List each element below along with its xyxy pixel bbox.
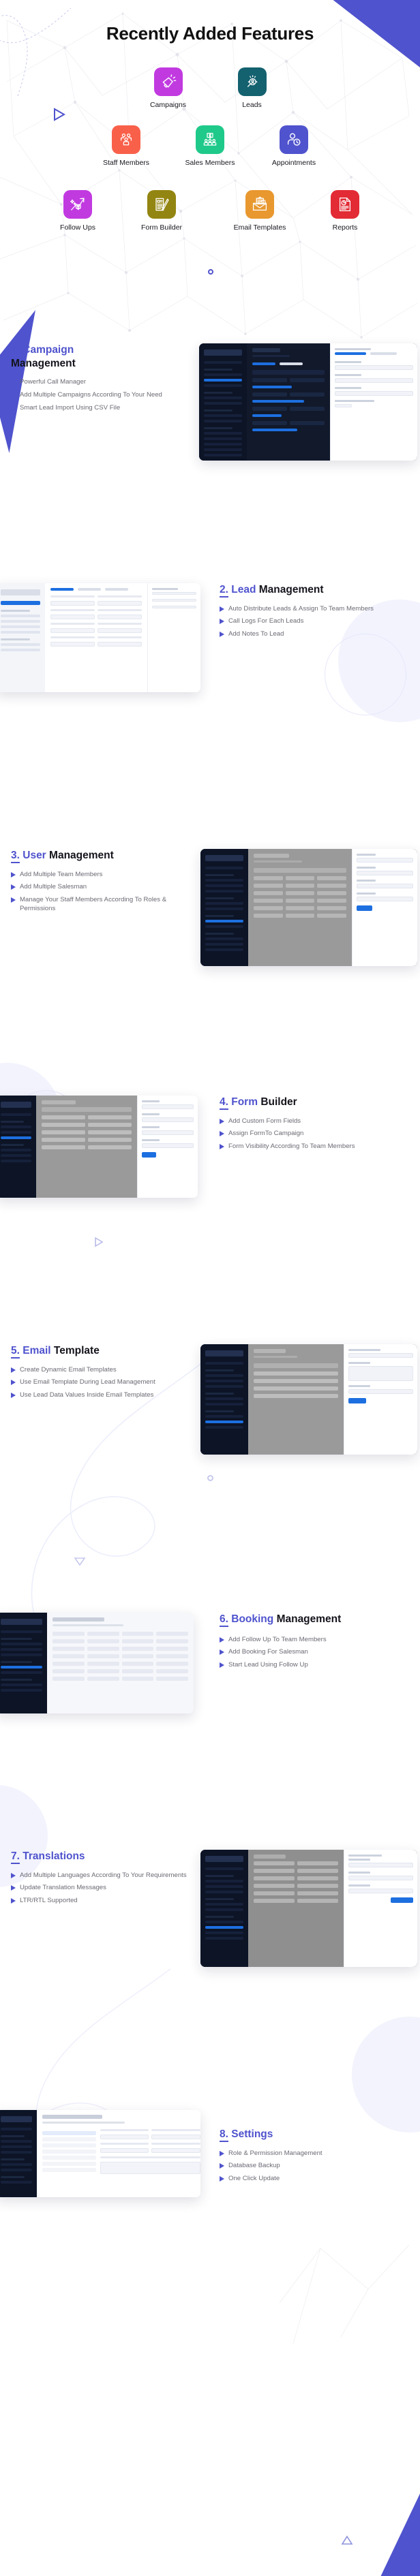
feature-section-3-bullets: Add Multiple Team Members Add Multiple S… bbox=[11, 871, 191, 914]
feature-tile-label: Sales Members bbox=[168, 159, 252, 167]
bullet-text: Assign FormTo Campaign bbox=[228, 1130, 303, 1138]
feature-section-7-screenshot bbox=[200, 1850, 420, 1967]
staff-group-icon bbox=[112, 125, 140, 154]
bullet-triangle-icon bbox=[11, 1898, 16, 1904]
section-number: 5. bbox=[11, 1345, 20, 1359]
screenshot-template-editor bbox=[344, 1344, 417, 1455]
feature-tile-form-builder[interactable]: Form Builder bbox=[115, 190, 209, 232]
screenshot-list-panel bbox=[247, 343, 330, 461]
feature-section-4-text: 4. Form Builder Add Custom Form Fields A… bbox=[205, 1096, 420, 1155]
bullet-item: Add Multiple Campaigns According To Your… bbox=[11, 391, 185, 400]
section-accent-word: Campaign bbox=[22, 344, 74, 356]
section-plain-word: Template bbox=[54, 1345, 100, 1356]
feature-tile-label: Staff Members bbox=[85, 159, 168, 167]
hero-section: Recently Added Features Campaigns bbox=[0, 0, 420, 247]
form-pencil-icon bbox=[147, 190, 176, 219]
feature-section-3-screenshot bbox=[200, 849, 420, 966]
screenshot-sidebar bbox=[200, 1850, 248, 1967]
feature-section-6-text: 6. Booking Management Add Follow Up To T… bbox=[205, 1613, 420, 1674]
feature-section-1-bullets: Powerful Call Manager Add Multiple Campa… bbox=[11, 378, 185, 413]
bullet-item: Auto Distribute Leads & Assign To Team M… bbox=[220, 605, 412, 614]
feature-section-2-title: 2. Lead Management bbox=[220, 583, 412, 597]
app-screenshot-campaigns bbox=[199, 343, 417, 461]
app-screenshot-bookings bbox=[0, 1613, 194, 1713]
screenshot-settings-panel bbox=[37, 2110, 200, 2197]
feature-section-7-bullets: Add Multiple Languages According To Your… bbox=[11, 1872, 191, 1906]
bullet-item: Call Logs For Each Leads bbox=[220, 617, 412, 626]
bullet-text: Smart Lead Import Using CSV File bbox=[20, 404, 120, 413]
bullet-item: Powerful Call Manager bbox=[11, 378, 185, 387]
screenshot-template-list bbox=[248, 1344, 344, 1455]
bullet-text: Start Lead Using Follow Up bbox=[228, 1661, 308, 1670]
feature-section-8-screenshot bbox=[0, 2110, 205, 2197]
bullet-triangle-icon bbox=[220, 1662, 224, 1668]
feature-tile-label: Follow Ups bbox=[41, 223, 115, 232]
screenshot-field-panel bbox=[137, 1096, 198, 1198]
feature-tile-label: Campaigns bbox=[126, 101, 210, 109]
bullet-text: Add Follow Up To Team Members bbox=[228, 1636, 327, 1645]
bullet-item: Add Multiple Salesman bbox=[11, 883, 191, 892]
feature-tile-sales-members[interactable]: Sales Members bbox=[168, 125, 252, 167]
bullet-text: Add Multiple Campaigns According To Your… bbox=[20, 391, 162, 400]
feature-tile-label: Form Builder bbox=[115, 223, 209, 232]
feature-section-7-title: 7. Translations bbox=[11, 1850, 191, 1863]
bullet-triangle-icon bbox=[11, 884, 16, 890]
screenshot-user-table bbox=[248, 849, 352, 966]
screenshot-form-panel bbox=[330, 343, 417, 461]
feature-tile-label: Appointments bbox=[252, 159, 336, 167]
section-number: 1. bbox=[11, 344, 20, 358]
bullet-triangle-icon bbox=[11, 1380, 16, 1385]
bullet-item: Form Visibility According To Team Member… bbox=[220, 1143, 412, 1151]
feature-section-3-text: 3. User Management Add Multiple Team Mem… bbox=[0, 849, 200, 918]
bullet-item: Manage Your Staff Members According To R… bbox=[11, 896, 191, 914]
bullet-text: Call Logs For Each Leads bbox=[228, 617, 303, 626]
bullet-triangle-icon bbox=[11, 1885, 16, 1891]
bullet-item: Start Lead Using Follow Up bbox=[220, 1661, 412, 1670]
growth-chart-icon bbox=[63, 190, 92, 219]
bullet-item: One Click Update bbox=[220, 2175, 412, 2184]
screenshot-sidebar bbox=[0, 1613, 47, 1713]
section-accent-word: Booking bbox=[231, 1613, 273, 1625]
bullet-text: Create Dynamic Email Templates bbox=[20, 1366, 117, 1375]
section-number: 2. bbox=[220, 584, 228, 598]
lead-search-icon bbox=[238, 67, 267, 96]
section-accent-word: Lead bbox=[231, 584, 256, 595]
app-screenshot-translations bbox=[200, 1850, 417, 1967]
up-triangle-decoration bbox=[341, 2534, 353, 2545]
bullet-text: Use Lead Data Values Inside Email Templa… bbox=[20, 1391, 153, 1400]
bullet-item: LTR/RTL Supported bbox=[11, 1897, 191, 1906]
feature-section-2-bullets: Auto Distribute Leads & Assign To Team M… bbox=[220, 605, 412, 640]
screenshot-lead-form bbox=[45, 583, 147, 692]
feature-section-8-title: 8. Settings bbox=[220, 2128, 412, 2141]
bullet-text: Manage Your Staff Members According To R… bbox=[20, 896, 191, 914]
bullet-text: Add Multiple Salesman bbox=[20, 883, 87, 892]
feature-section-8-bullets: Role & Permission Management Database Ba… bbox=[220, 2150, 412, 2184]
screenshot-sidebar bbox=[0, 2110, 37, 2197]
bullet-item: Add Notes To Lead bbox=[220, 630, 412, 639]
app-screenshot-email-template bbox=[200, 1344, 417, 1455]
section-accent-word: Settings bbox=[231, 2128, 273, 2140]
feature-tile-follow-ups[interactable]: Follow Ups bbox=[41, 190, 115, 232]
feature-section-4-title: 4. Form Builder bbox=[220, 1096, 412, 1109]
feature-section-2-screenshot bbox=[0, 583, 205, 692]
bullet-text: Add Custom Form Fields bbox=[228, 1117, 301, 1126]
megaphone-icon bbox=[154, 67, 183, 96]
bullet-triangle-icon bbox=[220, 2163, 224, 2169]
section-number: 7. bbox=[11, 1850, 20, 1864]
screenshot-user-form bbox=[352, 849, 417, 966]
section-plain-word: Management bbox=[259, 584, 324, 595]
bullet-triangle-icon bbox=[11, 872, 16, 878]
bullet-text: Update Translation Messages bbox=[20, 1884, 106, 1893]
feature-section-7: 7. Translations Add Multiple Languages A… bbox=[0, 1850, 420, 1967]
section-plain-word: Management bbox=[11, 358, 76, 369]
section-accent-word: Translations bbox=[22, 1850, 85, 1862]
section-accent-word: User bbox=[22, 850, 46, 861]
screenshot-translation-form bbox=[344, 1850, 417, 1967]
bullet-triangle-icon bbox=[220, 1144, 224, 1149]
section-number: 8. bbox=[220, 2128, 228, 2142]
bullet-text: Powerful Call Manager bbox=[20, 378, 86, 387]
feature-tile-appointments[interactable]: Appointments bbox=[252, 125, 336, 167]
corner-triangle-bottom-right bbox=[364, 2453, 420, 2576]
screenshot-sidebar bbox=[199, 343, 247, 461]
screenshot-lead-history bbox=[147, 583, 200, 692]
bullet-item: Use Email Template During Lead Managemen… bbox=[11, 1378, 191, 1387]
feature-section-4-bullets: Add Custom Form Fields Assign FormTo Cam… bbox=[220, 1117, 412, 1152]
screenshot-sidebar bbox=[200, 1344, 248, 1455]
feature-section-5-screenshot bbox=[200, 1344, 420, 1455]
bullet-triangle-icon bbox=[220, 1119, 224, 1124]
bullet-item: Add Multiple Team Members bbox=[11, 871, 191, 880]
bullet-triangle-icon bbox=[220, 1637, 224, 1643]
bullet-text: Form Visibility According To Team Member… bbox=[228, 1143, 355, 1151]
bullet-triangle-icon bbox=[11, 392, 16, 398]
feature-section-6-title: 6. Booking Management bbox=[220, 1613, 412, 1626]
bullet-text: Add Multiple Team Members bbox=[20, 871, 102, 880]
feature-section-6-screenshot bbox=[0, 1613, 205, 1713]
feature-section-4-screenshot bbox=[0, 1096, 205, 1198]
feature-tile-leads[interactable]: Leads bbox=[210, 67, 294, 109]
feature-section-8: 8. Settings Role & Permission Management… bbox=[0, 2110, 420, 2245]
appointment-clock-icon bbox=[280, 125, 308, 154]
feature-tile-label: Leads bbox=[210, 101, 294, 109]
bullet-item: Add Custom Form Fields bbox=[220, 1117, 412, 1126]
bullet-item: Add Follow Up To Team Members bbox=[220, 1636, 412, 1645]
section-number: 4. bbox=[220, 1096, 228, 1110]
bullet-text: One Click Update bbox=[228, 2175, 280, 2184]
feature-section-1-screenshot bbox=[195, 343, 420, 461]
feature-section-1: 1. Campaign Management Powerful Call Man… bbox=[0, 343, 420, 461]
down-triangle-decoration bbox=[74, 1557, 86, 1566]
section-number: 6. bbox=[220, 1613, 228, 1627]
bullet-text: Role & Permission Management bbox=[228, 2150, 322, 2158]
feature-section-4: 4. Form Builder Add Custom Form Fields A… bbox=[0, 1096, 420, 1198]
feature-tile-reports[interactable]: Reports bbox=[311, 190, 379, 232]
bullet-text: Add Booking For Salesman bbox=[228, 1648, 308, 1657]
bullet-triangle-icon bbox=[220, 1131, 224, 1136]
bullet-triangle-icon bbox=[11, 1367, 16, 1373]
feature-section-3: 3. User Management Add Multiple Team Mem… bbox=[0, 849, 420, 966]
screenshot-sidebar bbox=[0, 583, 45, 692]
feature-tile-label: Reports bbox=[311, 223, 379, 232]
circle-decoration-3 bbox=[207, 1475, 213, 1481]
feature-section-6: 6. Booking Management Add Follow Up To T… bbox=[0, 1613, 420, 1713]
feature-showcase-page: Recently Added Features Campaigns bbox=[0, 0, 420, 2576]
section-plain-word: Management bbox=[49, 850, 114, 861]
feature-tile-label: Email Templates bbox=[209, 223, 311, 232]
feature-section-1-text: 1. Campaign Management Powerful Call Man… bbox=[0, 343, 195, 417]
app-screenshot-form-builder bbox=[0, 1096, 198, 1198]
play-triangle-decoration-4 bbox=[94, 1237, 104, 1247]
feature-section-5-title: 5. Email Template bbox=[11, 1344, 191, 1358]
screenshot-form-canvas bbox=[36, 1096, 137, 1198]
report-chart-icon bbox=[331, 190, 359, 219]
app-screenshot-users bbox=[200, 849, 417, 966]
bullet-triangle-icon bbox=[220, 619, 224, 624]
bullet-item: Add Multiple Languages According To Your… bbox=[11, 1872, 191, 1880]
feature-section-8-text: 8. Settings Role & Permission Management… bbox=[205, 2110, 420, 2188]
bullet-triangle-icon bbox=[11, 1873, 16, 1878]
feature-section-1-title: 1. Campaign Management bbox=[11, 343, 185, 370]
screenshot-sidebar bbox=[0, 1096, 36, 1198]
circle-decoration-1 bbox=[208, 269, 213, 275]
bullet-text: Add Multiple Languages According To Your… bbox=[20, 1872, 187, 1880]
bullet-text: Database Backup bbox=[228, 2162, 280, 2171]
feature-icon-grid: Campaigns Leads bbox=[0, 63, 420, 247]
bullet-item: Update Translation Messages bbox=[11, 1884, 191, 1893]
bullet-triangle-icon bbox=[220, 606, 224, 612]
feature-section-5-bullets: Create Dynamic Email Templates Use Email… bbox=[11, 1366, 191, 1401]
bullet-triangle-icon bbox=[220, 632, 224, 637]
page-title: Recently Added Features bbox=[0, 23, 420, 44]
bullet-triangle-icon bbox=[220, 2176, 224, 2182]
bullet-item: Use Lead Data Values Inside Email Templa… bbox=[11, 1391, 191, 1400]
bullet-text: LTR/RTL Supported bbox=[20, 1897, 78, 1906]
sales-money-icon bbox=[196, 125, 224, 154]
bullet-triangle-icon bbox=[11, 405, 16, 411]
feature-tile-campaigns[interactable]: Campaigns bbox=[126, 67, 210, 109]
section-accent-word: Email bbox=[22, 1345, 50, 1356]
bullet-item: Assign FormTo Campaign bbox=[220, 1130, 412, 1138]
section-plain-word: Builder bbox=[260, 1096, 297, 1108]
screenshot-sidebar bbox=[200, 849, 248, 966]
feature-section-5-text: 5. Email Template Create Dynamic Email T… bbox=[0, 1344, 200, 1404]
bullet-text: Add Notes To Lead bbox=[228, 630, 284, 639]
feature-tile-staff-members[interactable]: Staff Members bbox=[85, 125, 168, 167]
feature-section-2-text: 2. Lead Management Auto Distribute Leads… bbox=[205, 583, 420, 643]
bullet-text: Use Email Template During Lead Managemen… bbox=[20, 1378, 155, 1387]
bullet-item: Database Backup bbox=[220, 2162, 412, 2171]
bullet-triangle-icon bbox=[220, 1649, 224, 1655]
feature-section-3-title: 3. User Management bbox=[11, 849, 191, 863]
bullet-triangle-icon bbox=[11, 379, 16, 385]
section-number: 3. bbox=[11, 850, 20, 863]
bullet-item: Smart Lead Import Using CSV File bbox=[11, 404, 185, 413]
bullet-item: Role & Permission Management bbox=[220, 2150, 412, 2158]
app-screenshot-settings bbox=[0, 2110, 200, 2197]
email-search-icon bbox=[245, 190, 274, 219]
section-plain-word: Management bbox=[277, 1613, 342, 1625]
bullet-item: Add Booking For Salesman bbox=[220, 1648, 412, 1657]
feature-section-7-text: 7. Translations Add Multiple Languages A… bbox=[0, 1850, 200, 1910]
app-screenshot-leads bbox=[0, 583, 200, 692]
bullet-triangle-icon bbox=[11, 897, 16, 903]
feature-section-6-bullets: Add Follow Up To Team Members Add Bookin… bbox=[220, 1636, 412, 1671]
bullet-triangle-icon bbox=[220, 2151, 224, 2156]
section-accent-word: Form bbox=[231, 1096, 258, 1108]
feature-section-5: 5. Email Template Create Dynamic Email T… bbox=[0, 1344, 420, 1455]
screenshot-booking-table bbox=[47, 1613, 194, 1713]
bullet-text: Auto Distribute Leads & Assign To Team M… bbox=[228, 605, 374, 614]
screenshot-translation-table bbox=[248, 1850, 344, 1967]
bullet-item: Create Dynamic Email Templates bbox=[11, 1366, 191, 1375]
feature-section-2: 2. Lead Management Auto Distribute Leads… bbox=[0, 583, 420, 692]
bullet-triangle-icon bbox=[11, 1393, 16, 1398]
feature-tile-email-templates[interactable]: Email Templates bbox=[209, 190, 311, 232]
